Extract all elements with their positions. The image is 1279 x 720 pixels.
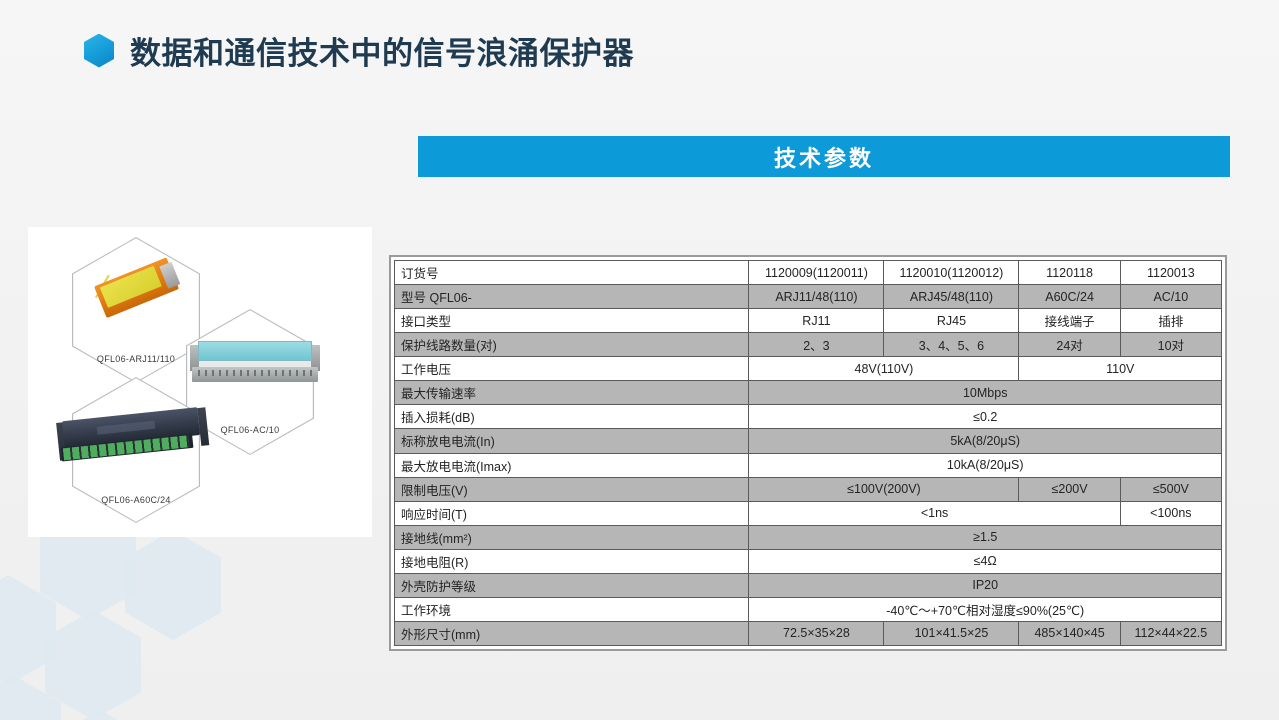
spec-row-label: 工作电压 (395, 357, 749, 381)
spec-cell: 10kA(8/20μS) (749, 453, 1222, 477)
spec-cell: RJ45 (884, 309, 1019, 333)
spec-cell: -40℃～+70℃相对湿度≤90%(25℃) (749, 597, 1222, 621)
slide-canvas: 数据和通信技术中的信号浪涌保护器 技术参数 QFL06-ARJ11/110 (0, 0, 1279, 720)
spec-cell: 2、3 (749, 333, 884, 357)
table-row: 工作电压48V(110V)110V (395, 357, 1222, 381)
product-image-panel: QFL06-ARJ11/110 QFL06-AC/10 (28, 227, 372, 537)
spec-cell: 101×41.5×25 (884, 621, 1019, 645)
table-row: 订货号1120009(1120011)1120010(1120012)11201… (395, 261, 1222, 285)
spec-cell: 5kA(8/20μS) (749, 429, 1222, 453)
spec-cell: 24对 (1019, 333, 1120, 357)
module-top-face (198, 341, 312, 361)
spec-cell: AC/10 (1120, 285, 1221, 309)
page-title: 数据和通信技术中的信号浪涌保护器 (130, 28, 634, 73)
spec-table-body: 订货号1120009(1120011)1120010(1120012)11201… (395, 261, 1222, 646)
spec-cell: ≤500V (1120, 477, 1221, 501)
spec-row-label: 工作环境 (395, 597, 749, 621)
spec-cell: <1ns (749, 501, 1120, 525)
spec-cell: 48V(110V) (749, 357, 1019, 381)
table-row: 最大传输速率10Mbps (395, 381, 1222, 405)
spec-row-label: 接地线(mm²) (395, 525, 749, 549)
spec-cell: 10对 (1120, 333, 1221, 357)
table-row: 插入损耗(dB)≤0.2 (395, 405, 1222, 429)
spec-cell: ≤4Ω (749, 549, 1222, 573)
spec-cell: 1120009(1120011) (749, 261, 884, 285)
product-label-0: QFL06-ARJ11/110 (72, 354, 200, 364)
spec-cell: ARJ45/48(110) (884, 285, 1019, 309)
spec-cell: ARJ11/48(110) (749, 285, 884, 309)
spec-row-label: 订货号 (395, 261, 749, 285)
spec-row-label: 最大传输速率 (395, 381, 749, 405)
table-row: 接地线(mm²)≥1.5 (395, 525, 1222, 549)
spec-row-label: 标称放电电流(In) (395, 429, 749, 453)
table-row: 接地电阻(R)≤4Ω (395, 549, 1222, 573)
spec-cell: RJ11 (749, 309, 884, 333)
spec-cell: IP20 (749, 573, 1222, 597)
product-label-2: QFL06-A60C/24 (72, 495, 200, 505)
spec-cell: ≤200V (1019, 477, 1120, 501)
honeycomb-watermark (0, 520, 340, 720)
table-row: 标称放电电流(In)5kA(8/20μS) (395, 429, 1222, 453)
section-banner: 技术参数 (418, 136, 1230, 177)
spec-cell: 1120118 (1019, 261, 1120, 285)
spec-row-label: 插入损耗(dB) (395, 405, 749, 429)
hexagon-icon (84, 34, 114, 68)
spec-row-label: 外形尺寸(mm) (395, 621, 749, 645)
watermark-hexagon (45, 610, 141, 720)
spec-cell: 10Mbps (749, 381, 1222, 405)
spec-row-label: 外壳防护等级 (395, 573, 749, 597)
spec-cell: 110V (1019, 357, 1222, 381)
watermark-hexagon (0, 575, 56, 685)
page-title-row: 数据和通信技术中的信号浪涌保护器 (84, 28, 634, 73)
spec-cell: 72.5×35×28 (749, 621, 884, 645)
spec-cell: ≤0.2 (749, 405, 1222, 429)
table-row: 保护线路数量(对)2、33、4、5、624对10对 (395, 333, 1222, 357)
spec-cell: 485×140×45 (1019, 621, 1120, 645)
table-row: 型号 QFL06-ARJ11/48(110)ARJ45/48(110)A60C/… (395, 285, 1222, 309)
section-banner-label: 技术参数 (774, 141, 874, 173)
spec-cell: 3、4、5、6 (884, 333, 1019, 357)
spec-row-label: 接口类型 (395, 309, 749, 333)
spec-row-label: 型号 QFL06- (395, 285, 749, 309)
spec-cell: 1120013 (1120, 261, 1221, 285)
spec-cell: 接线端子 (1019, 309, 1120, 333)
spec-row-label: 保护线路数量(对) (395, 333, 749, 357)
table-row: 外形尺寸(mm)72.5×35×28101×41.5×25485×140×451… (395, 621, 1222, 645)
table-row: 限制电压(V)≤100V(200V)≤200V≤500V (395, 477, 1222, 501)
table-row: 接口类型RJ11RJ45接线端子插排 (395, 309, 1222, 333)
watermark-hexagon (0, 675, 61, 720)
spec-row-label: 限制电压(V) (395, 477, 749, 501)
watermark-hexagon (52, 710, 148, 720)
spec-cell: 插排 (1120, 309, 1221, 333)
spec-cell: <100ns (1120, 501, 1221, 525)
table-row: 工作环境-40℃～+70℃相对湿度≤90%(25℃) (395, 597, 1222, 621)
table-row: 外壳防护等级IP20 (395, 573, 1222, 597)
product-hexagon-grid: QFL06-ARJ11/110 QFL06-AC/10 (28, 227, 372, 537)
spec-cell: A60C/24 (1019, 285, 1120, 309)
terminal-dots (198, 370, 312, 376)
spec-table: 订货号1120009(1120011)1120010(1120012)11201… (394, 260, 1222, 646)
spec-cell: 1120010(1120012) (884, 261, 1019, 285)
product-image-teal-module (190, 337, 320, 385)
spec-table-container: 订货号1120009(1120011)1120010(1120012)11201… (389, 255, 1227, 651)
table-row: 响应时间(T)<1ns<100ns (395, 501, 1222, 525)
spec-row-label: 接地电阻(R) (395, 549, 749, 573)
watermark-hexagon (125, 530, 221, 640)
spec-cell: ≤100V(200V) (749, 477, 1019, 501)
table-row: 最大放电电流(Imax)10kA(8/20μS) (395, 453, 1222, 477)
spec-cell: 112×44×22.5 (1120, 621, 1221, 645)
spec-row-label: 最大放电电流(Imax) (395, 453, 749, 477)
spec-cell: ≥1.5 (749, 525, 1222, 549)
spec-row-label: 响应时间(T) (395, 501, 749, 525)
